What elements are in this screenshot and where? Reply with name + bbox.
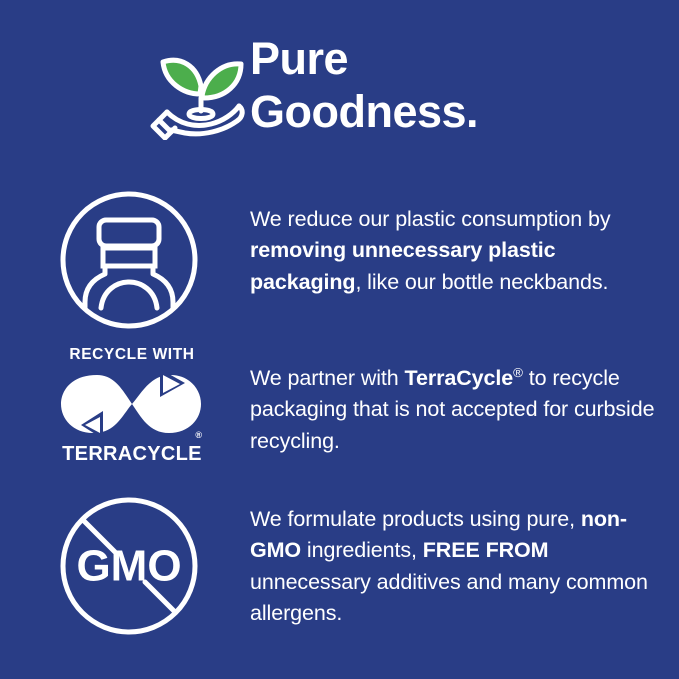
terracycle-logo: RECYCLE WITH ® TERRACYCLE [57,345,207,485]
feature-text-gmo: We formulate products using pure, non-GM… [250,504,670,630]
bottle-neckband-circle-icon [57,190,207,340]
hand-holding-sprout-icon [145,32,257,140]
terracycle-top-label: RECYCLE WITH [57,347,207,363]
page-title: Pure Goodness. [250,33,670,138]
feature-text-plastic: We reduce our plastic consumption by rem… [250,204,670,298]
terracycle-bottom-label: TERRACYCLE [57,444,207,464]
feature-text-terracycle: We partner with TerraCycle® to recycle p… [250,363,670,457]
poster-header: Pure Goodness. [0,0,679,170]
pure-goodness-poster: Pure Goodness. We reduce our plastic con… [0,0,679,679]
terracycle-registered-mark: ® [195,431,202,440]
no-gmo-label: GMO [76,542,181,591]
feature-row-gmo: GMO We formulate products using pure, no… [0,494,679,649]
infinity-loop-arrows-icon: ® [57,367,207,441]
feature-row-terracycle: RECYCLE WITH ® TERRACYCLE [0,345,679,485]
feature-row-plastic: We reduce our plastic consumption by rem… [0,190,679,340]
no-gmo-icon: GMO [57,494,207,649]
